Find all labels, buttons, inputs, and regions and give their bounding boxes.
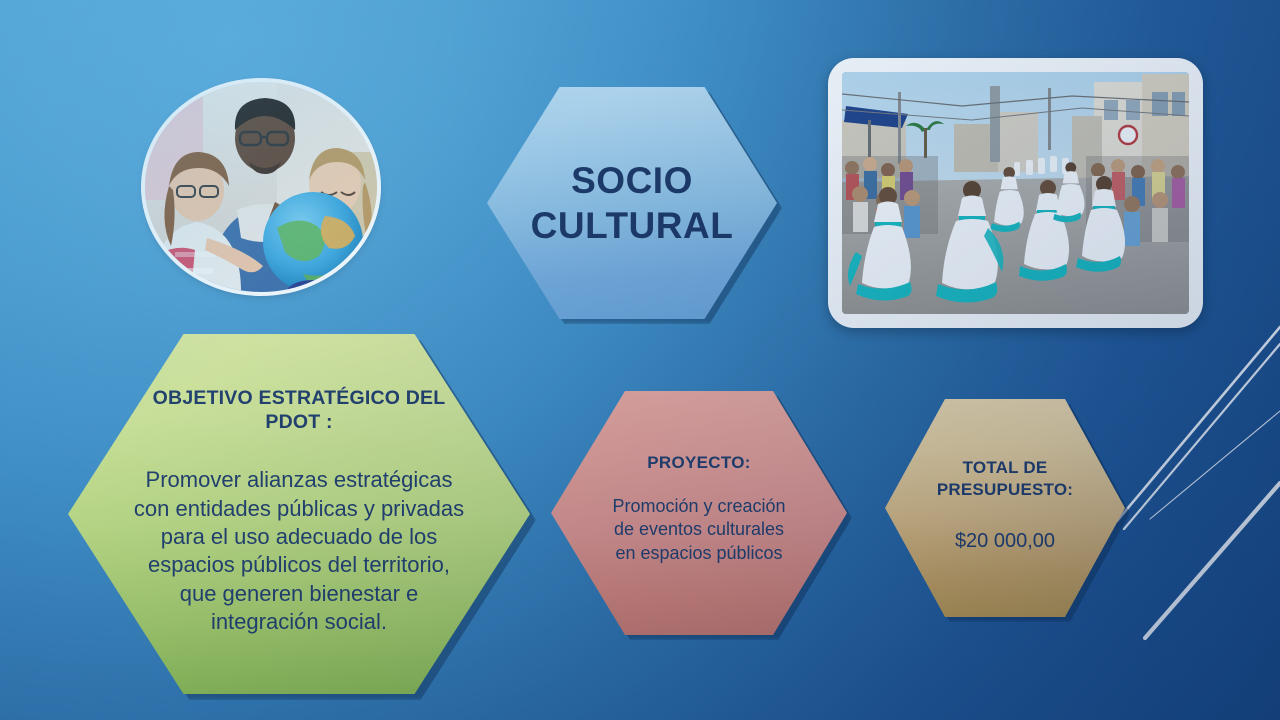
decorative-line-2	[1117, 327, 1280, 521]
folk-dancers-street-parade-photo	[842, 72, 1189, 314]
budget-amount: $20 000,00	[925, 530, 1085, 553]
objective-hexagon: OBJETIVO ESTRATÉGICO DEL PDOT : Promover…	[68, 334, 530, 694]
teacher-with-children-and-globe-photo	[145, 82, 377, 292]
decorative-line-3	[1124, 344, 1280, 529]
decorative-line-1	[1150, 411, 1280, 519]
folk-dancers-street-parade-photo-frame	[828, 58, 1203, 328]
project-body: Promoción y creación de eventos cultural…	[603, 495, 795, 565]
objective-heading: OBJETIVO ESTRATÉGICO DEL PDOT :	[132, 386, 466, 435]
decorative-line-4	[1145, 483, 1280, 638]
presentation-slide: SOCIO CULTURAL	[0, 0, 1280, 720]
title-line-2: CULTURAL	[531, 203, 734, 248]
objective-body: Promover alianzas estratégicas con entid…	[132, 466, 466, 636]
project-heading: PROYECTO:	[603, 453, 795, 473]
title-line-1: SOCIO	[571, 158, 693, 203]
budget-heading: TOTAL DE PRESUPUESTO:	[925, 457, 1085, 500]
